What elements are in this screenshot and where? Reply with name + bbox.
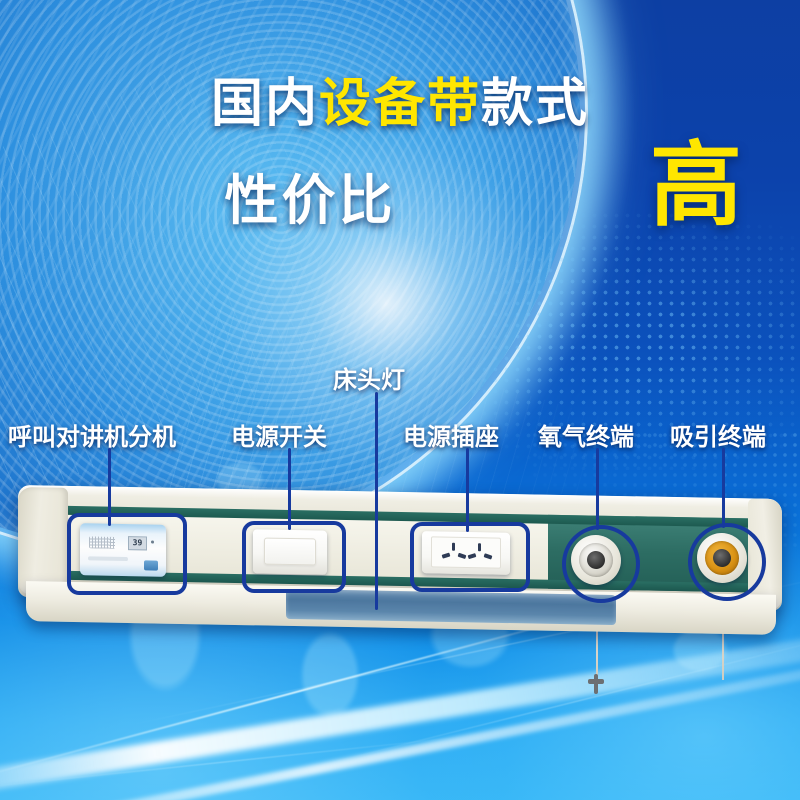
callout-label-intercom: 呼叫对讲机分机 bbox=[8, 417, 176, 452]
leader-line-suction bbox=[722, 448, 725, 528]
callout-label-oxygen: 氧气终端 bbox=[538, 417, 634, 452]
leader-line-socket bbox=[466, 448, 469, 532]
leader-line-bedlamp bbox=[375, 392, 378, 610]
promo-banner: 国内设备带款式 性价比 高 呼叫对讲机分机 电源开关 床头灯 电源插座 氧气终端… bbox=[0, 0, 800, 800]
callout-label-suction: 吸引终端 bbox=[670, 417, 766, 452]
callout-label-switch: 电源开关 bbox=[231, 417, 327, 452]
callout-label-bedlamp: 床头灯 bbox=[333, 360, 405, 395]
callout-group: 呼叫对讲机分机 电源开关 床头灯 电源插座 氧气终端 吸引终端 bbox=[0, 0, 800, 800]
leader-line-intercom bbox=[108, 448, 111, 526]
callout-label-socket: 电源插座 bbox=[403, 417, 499, 452]
leader-line-oxygen bbox=[596, 448, 599, 530]
leader-line-switch bbox=[288, 448, 291, 530]
